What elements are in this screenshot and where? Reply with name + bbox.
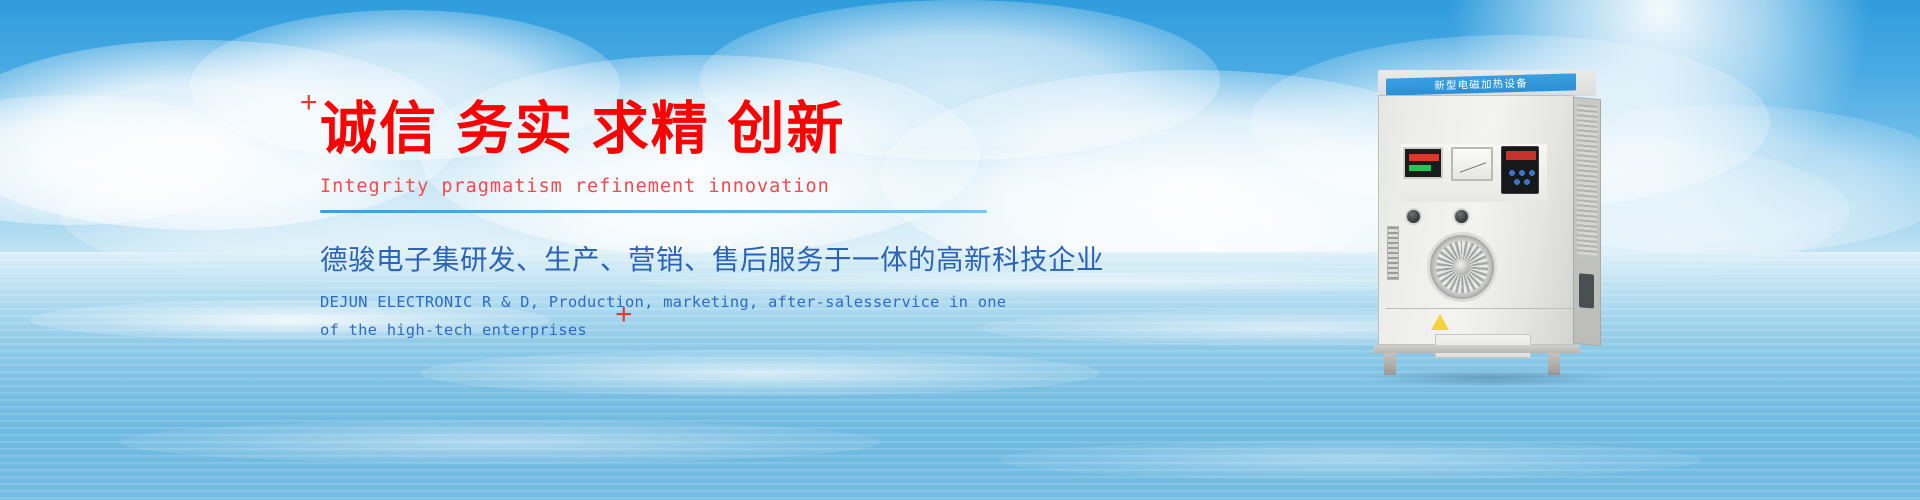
banner-subtitle-english-block: DEJUN ELECTRONIC R & D, Production, mark… <box>320 289 1040 344</box>
machine-shadow <box>1366 370 1614 386</box>
banner-subtitle-english-line-1: DEJUN ELECTRONIC R & D, Production, mark… <box>320 289 1040 317</box>
machine-side-vent <box>1387 226 1399 280</box>
machine-vent-panel <box>1573 97 1601 346</box>
water-glint <box>1000 440 1700 480</box>
keypad-controller-icon <box>1501 146 1539 194</box>
banner-subtitle-english-line-2: of the high-tech enterprises <box>320 317 1040 345</box>
water-glint <box>420 350 1100 396</box>
warning-sticker-icon <box>1431 314 1449 330</box>
product-machine-image: 新型电磁加热设备 <box>1372 70 1612 370</box>
plus-decoration-icon: + <box>615 300 633 330</box>
control-knob-icon <box>1405 208 1422 225</box>
machine-door-seam <box>1386 308 1580 309</box>
banner-headline: 诚信 务实 求精 创新 <box>320 96 1040 162</box>
machine-control-panel <box>1401 144 1547 202</box>
banner-subtitle-chinese: 德骏电子集研发、生产、营销、售后服务于一体的高新科技企业 <box>320 237 1040 277</box>
plus-decoration-icon: + <box>300 88 318 118</box>
analog-gauge-icon <box>1451 147 1493 181</box>
digital-display-icon <box>1403 147 1443 179</box>
banner-copy-block: 诚信 务实 求精 创新 Integrity pragmatism refinem… <box>320 96 1040 344</box>
banner-tagline-english: Integrity pragmatism refinement innovati… <box>320 176 1040 197</box>
machine-label-text: 新型电磁加热设备 <box>1434 76 1528 94</box>
control-knob-icon <box>1453 208 1470 225</box>
machine-cabinet <box>1378 95 1574 345</box>
water-glint <box>120 420 880 464</box>
hero-banner: + + 诚信 务实 求精 创新 Integrity pragmatism ref… <box>0 0 1920 500</box>
machine-base <box>1374 345 1580 353</box>
divider-rule <box>320 210 987 213</box>
cooling-fan-icon <box>1427 232 1497 302</box>
